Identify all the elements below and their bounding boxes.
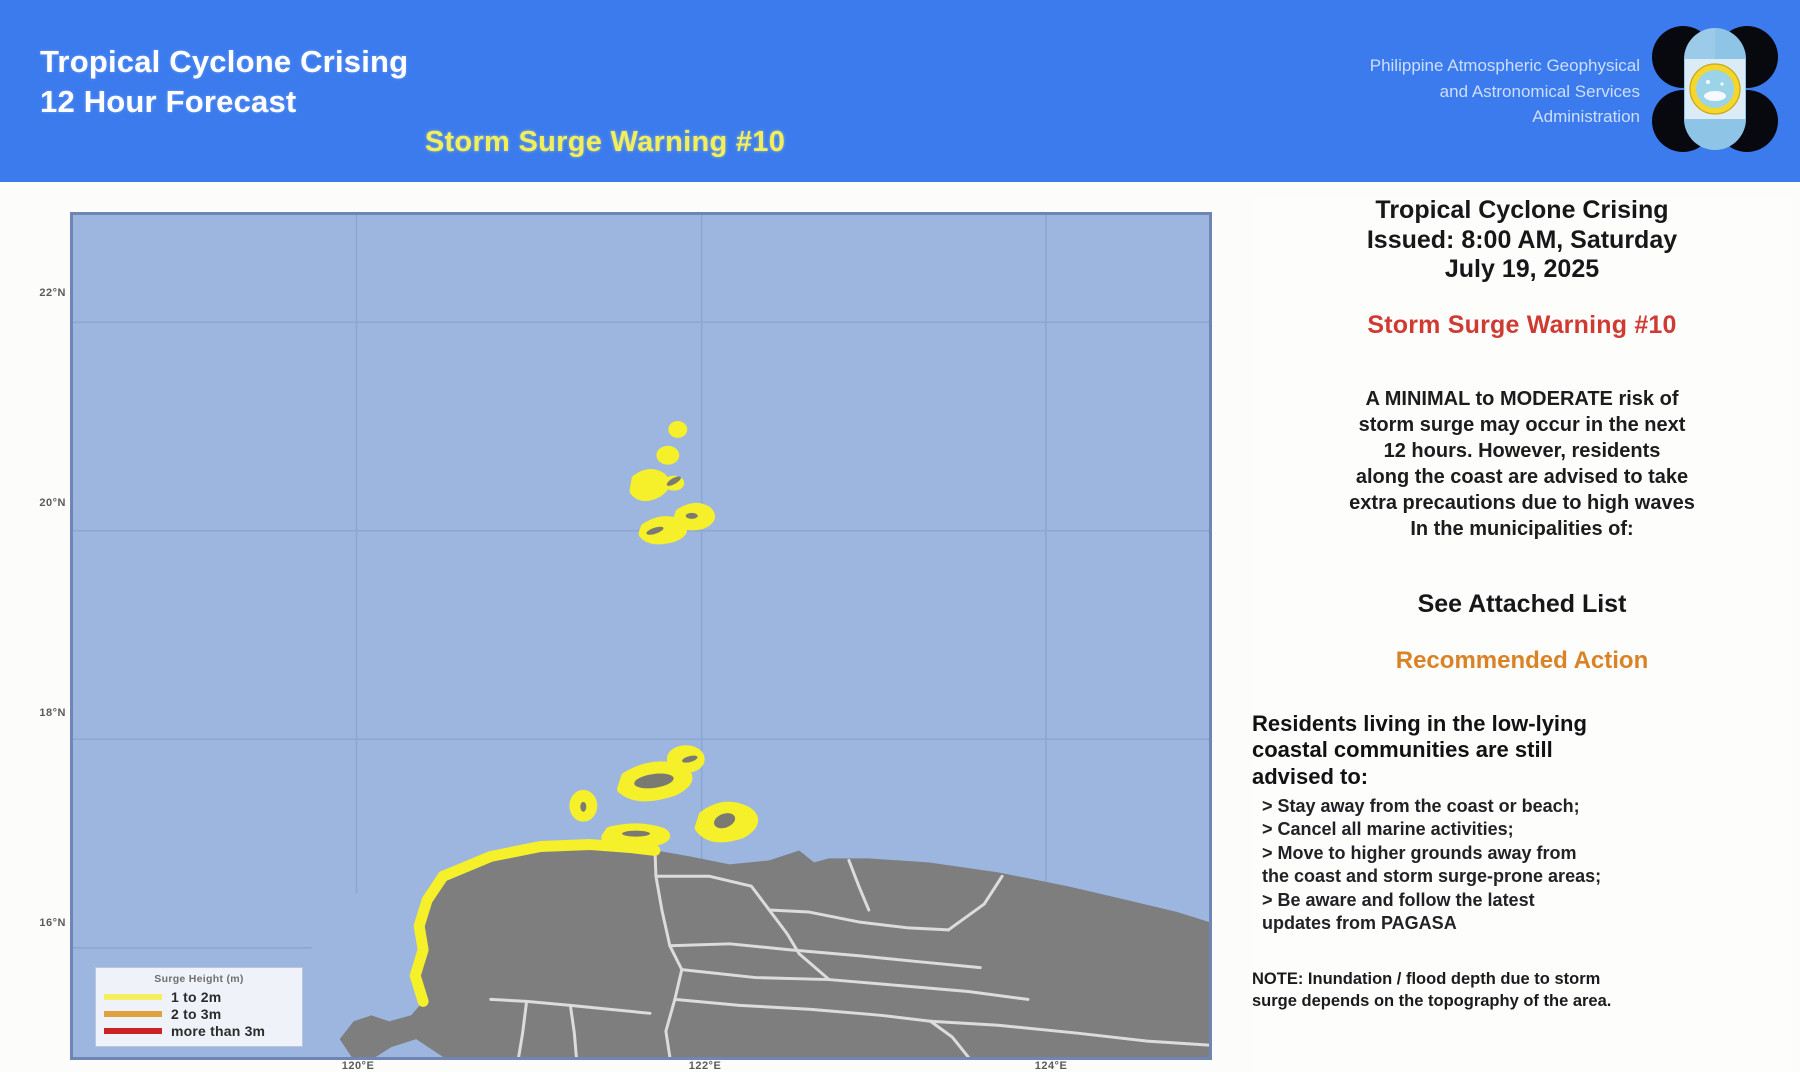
advisory-heading: Tropical Cyclone Crising Issued: 8:00 AM…	[1252, 196, 1792, 285]
legend-swatch-2to3m	[104, 1011, 162, 1017]
legend-item-morethan3m: more than 3m	[104, 1022, 294, 1039]
advice-item: updates from PAGASA	[1252, 912, 1792, 935]
header-banner: Tropical Cyclone Crising 12 Hour Forecas…	[0, 0, 1800, 182]
advice-item: > Stay away from the coast or beach;	[1252, 795, 1792, 818]
legend-label-2to3m: 2 to 3m	[171, 1006, 221, 1022]
advice-item: > Be aware and follow the latest	[1252, 889, 1792, 912]
page-title-line2: 12 Hour Forecast	[40, 82, 408, 122]
risk-line-2: storm surge may occur in the next	[1252, 412, 1792, 438]
lat-label-20n: 20°N	[4, 497, 66, 509]
legend-item-2to3m: 2 to 3m	[104, 1005, 294, 1022]
recommended-action-heading: Recommended Action	[1252, 647, 1792, 675]
advice-heading-line3: advised to:	[1252, 764, 1792, 791]
storm-surge-warning-graphic: Tropical Cyclone Crising 12 Hour Forecas…	[0, 0, 1800, 1072]
risk-line-4: along the coast are advised to take	[1252, 464, 1792, 490]
page-title-line1: Tropical Cyclone Crising	[40, 44, 408, 79]
map-graphic	[73, 215, 1209, 1057]
page-title: Tropical Cyclone Crising 12 Hour Forecas…	[40, 42, 408, 121]
see-attached-list: See Attached List	[1252, 590, 1792, 619]
lon-label-124e: 124°E	[1006, 1060, 1096, 1072]
map-legend: Surge Height (m) 1 to 2m 2 to 3m more th…	[95, 967, 303, 1047]
advice-item: > Move to higher grounds away from	[1252, 842, 1792, 865]
advice-item: > Cancel all marine activities;	[1252, 818, 1792, 841]
note-line-1: NOTE: Inundation / flood depth due to st…	[1252, 969, 1792, 990]
lon-label-120e: 120°E	[313, 1060, 403, 1072]
advice-heading-line1: Residents living in the low-lying	[1252, 711, 1792, 738]
warning-banner-title: Storm Surge Warning #10	[0, 126, 1210, 159]
lat-label-18n: 18°N	[4, 707, 66, 719]
advisory-note: NOTE: Inundation / flood depth due to st…	[1252, 969, 1792, 1012]
legend-swatch-morethan3m	[104, 1028, 162, 1034]
legend-swatch-1to2m	[104, 994, 162, 1000]
legend-label-morethan3m: more than 3m	[171, 1023, 265, 1039]
advisory-cyclone-name: Tropical Cyclone Crising	[1252, 196, 1792, 226]
agency-name-line1: Philippine Atmospheric Geophysical	[1200, 53, 1640, 79]
risk-line-3: 12 hours. However, residents	[1252, 438, 1792, 464]
risk-line-6: In the municipalities of:	[1252, 516, 1792, 542]
pagasa-logo-icon	[1652, 26, 1778, 152]
agency-name-line2: and Astronomical Services	[1200, 79, 1640, 105]
advice-list: > Stay away from the coast or beach; > C…	[1252, 795, 1792, 935]
advisory-warning-number: Storm Surge Warning #10	[1252, 311, 1792, 340]
advisory-issued-date: July 19, 2025	[1252, 255, 1792, 285]
legend-item-1to2m: 1 to 2m	[104, 988, 294, 1005]
lat-label-22n: 22°N	[4, 287, 66, 299]
pagasa-logo-svg	[1652, 26, 1778, 152]
risk-line-5: extra precautions due to high waves	[1252, 490, 1792, 516]
advice-item: the coast and storm surge-prone areas;	[1252, 865, 1792, 888]
agency-name: Philippine Atmospheric Geophysical and A…	[1200, 53, 1640, 130]
advisory-issued-time: Issued: 8:00 AM, Saturday	[1252, 226, 1792, 256]
risk-line-1: A MINIMAL to MODERATE risk of	[1252, 386, 1792, 412]
advice-heading-line2: coastal communities are still	[1252, 737, 1792, 764]
advisory-risk-text: A MINIMAL to MODERATE risk of storm surg…	[1252, 386, 1792, 542]
advisory-info-panel: Tropical Cyclone Crising Issued: 8:00 AM…	[1252, 196, 1792, 1072]
lat-label-16n: 16°N	[4, 917, 66, 929]
legend-title: Surge Height (m)	[104, 973, 294, 985]
lon-label-122e: 122°E	[660, 1060, 750, 1072]
agency-name-line3: Administration	[1200, 104, 1640, 130]
legend-label-1to2m: 1 to 2m	[171, 989, 221, 1005]
advice-heading: Residents living in the low-lying coasta…	[1252, 711, 1792, 791]
storm-surge-map[interactable]: Surge Height (m) 1 to 2m 2 to 3m more th…	[70, 212, 1212, 1060]
note-line-2: surge depends on the topography of the a…	[1252, 991, 1792, 1012]
